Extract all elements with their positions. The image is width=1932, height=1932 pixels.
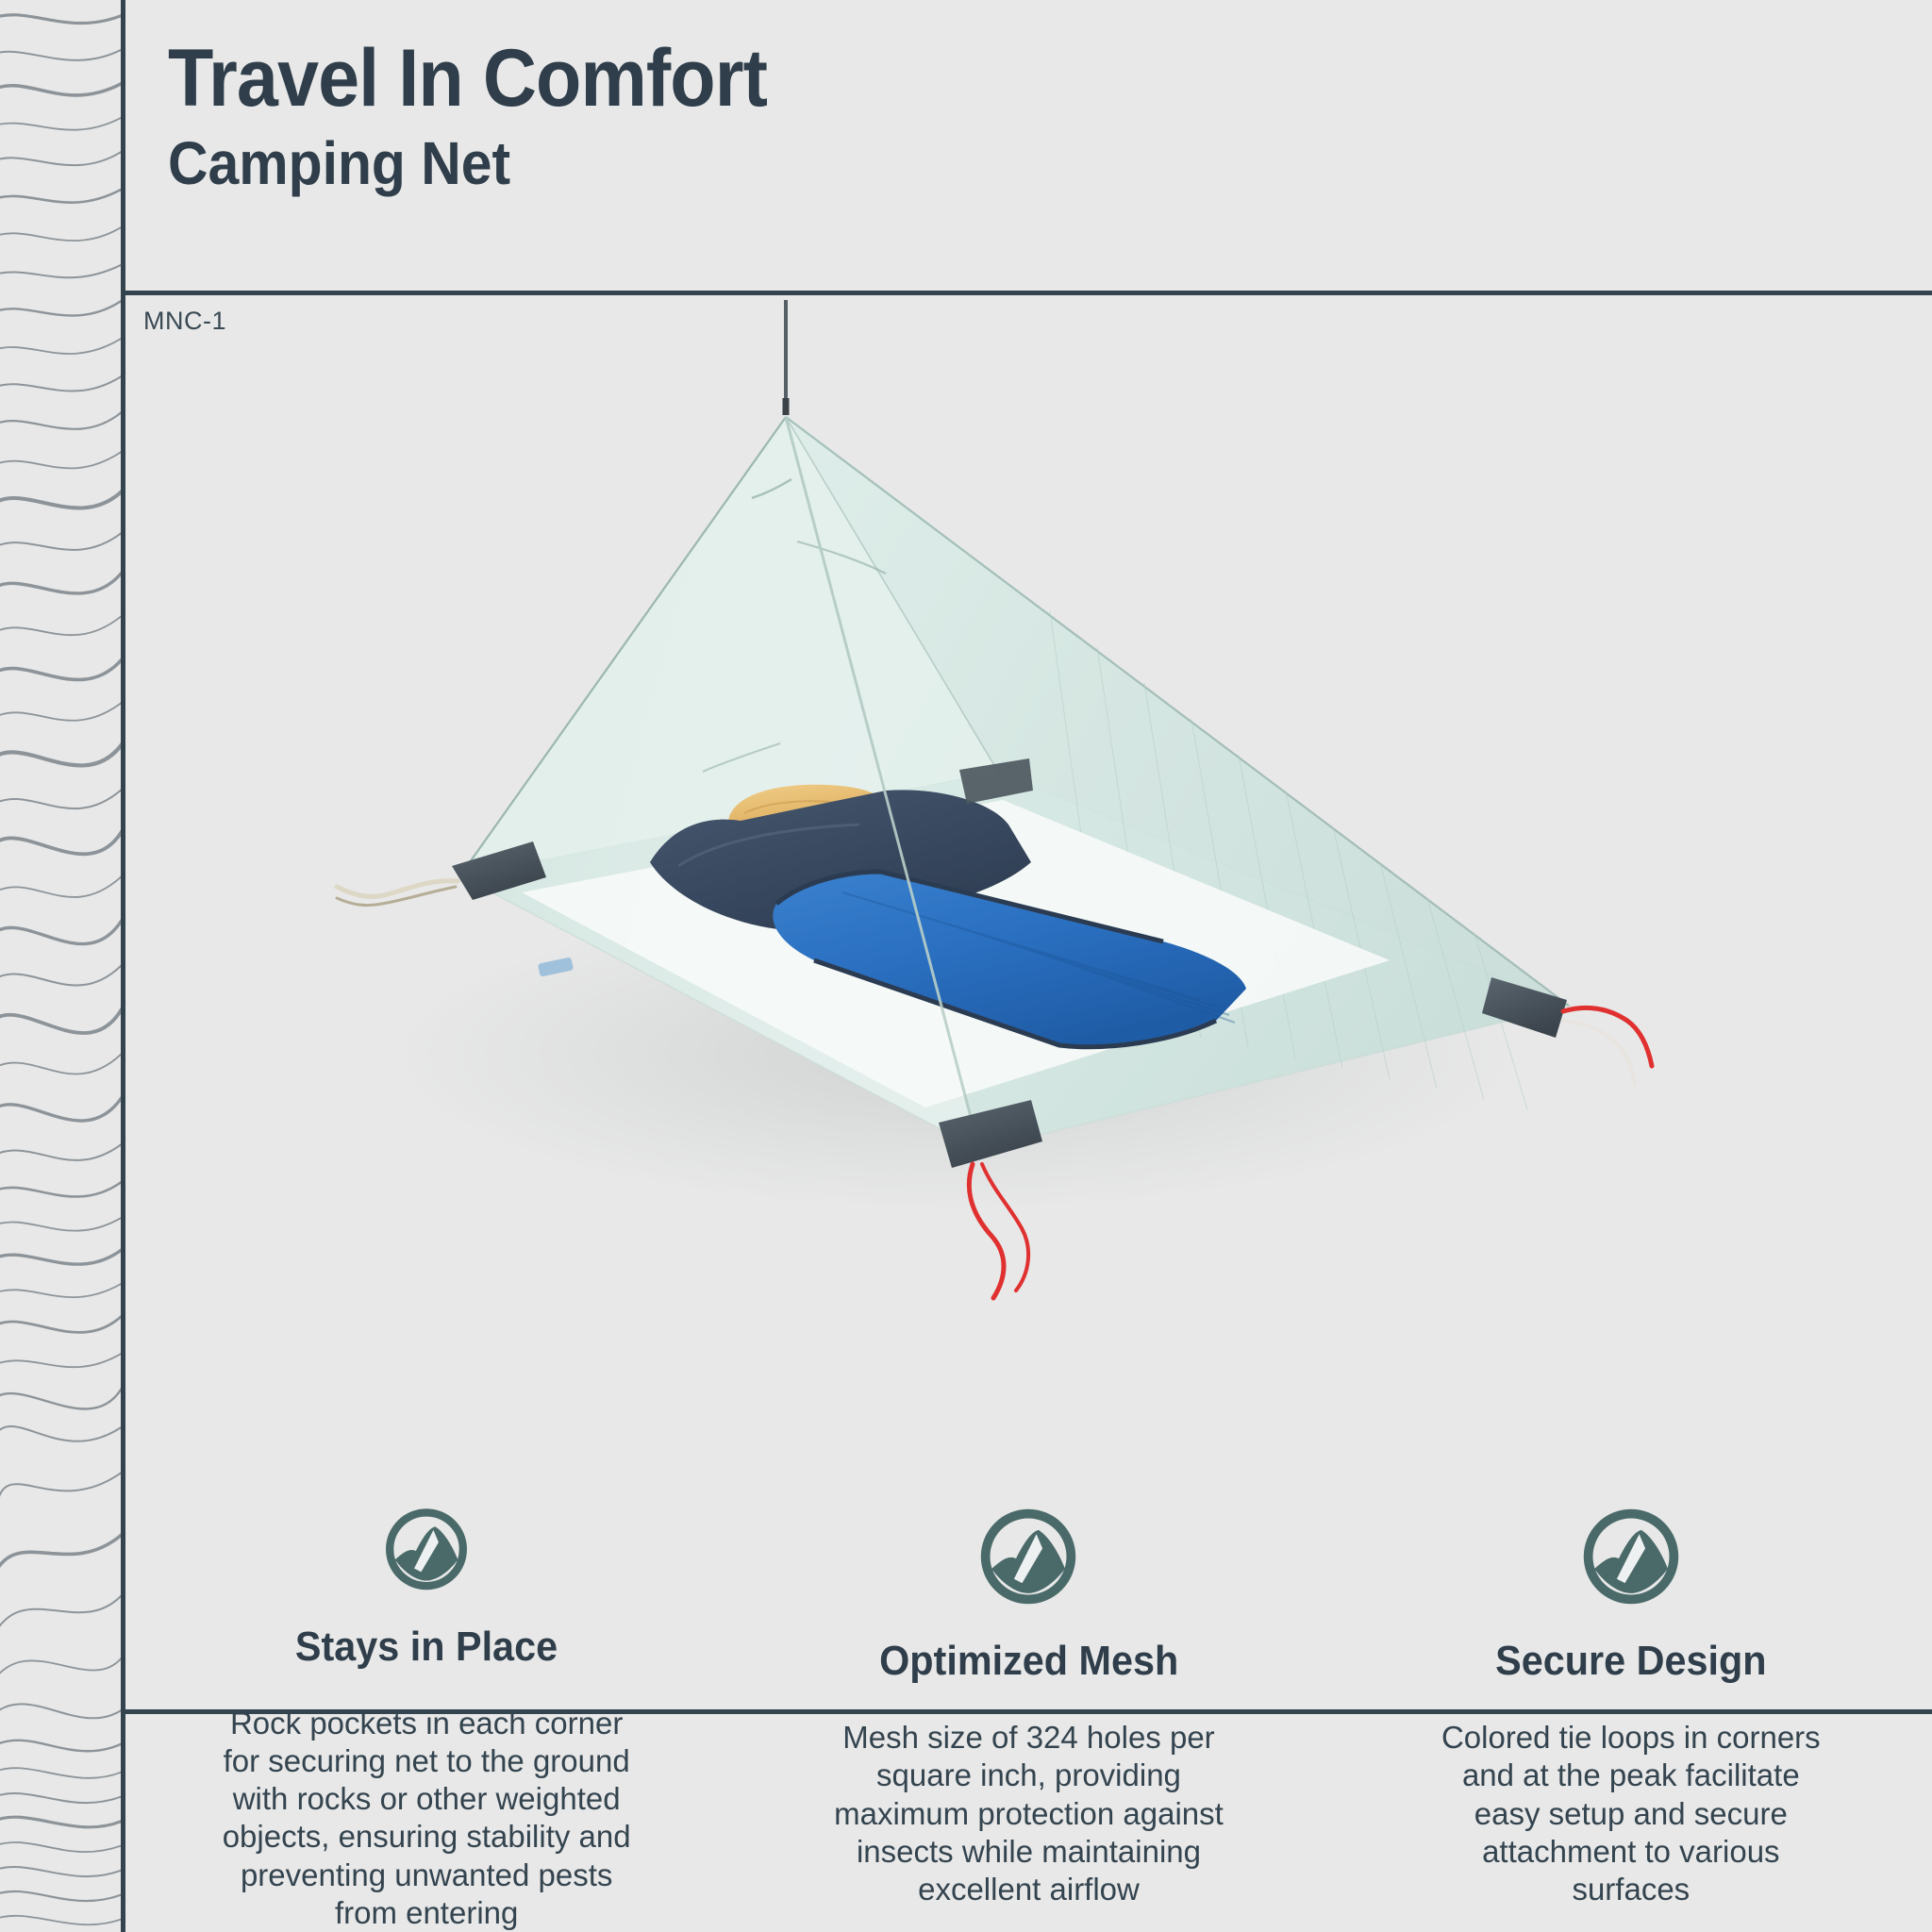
feature-title: Stays in Place xyxy=(295,1624,558,1671)
topographic-sidebar xyxy=(0,0,123,1932)
feature-column-1: Stays in Place Rock pockets in each corn… xyxy=(125,1500,727,1932)
camping-net-illustration xyxy=(125,300,1932,1489)
topographic-lines xyxy=(0,0,123,1932)
feature-title: Secure Design xyxy=(1495,1638,1766,1685)
header: Travel In Comfort Camping Net xyxy=(125,0,1932,292)
mountain-circle-icon xyxy=(375,1506,477,1593)
features-row: Stays in Place Rock pockets in each corn… xyxy=(125,1500,1932,1932)
header-divider xyxy=(121,291,1932,295)
feature-body: Mesh size of 324 holes per square inch, … xyxy=(807,1719,1250,1908)
page-subtitle: Camping Net xyxy=(168,132,1790,195)
mountain-circle-icon xyxy=(1580,1506,1682,1607)
feature-column-2: Optimized Mesh Mesh size of 324 holes pe… xyxy=(727,1500,1329,1932)
mountain-circle-icon xyxy=(977,1506,1079,1607)
corner-tie-right-2 xyxy=(1563,1021,1635,1085)
page-title: Travel In Comfort xyxy=(168,38,1790,121)
feature-title: Optimized Mesh xyxy=(879,1638,1178,1685)
product-image xyxy=(125,300,1932,1489)
corner-tie-left xyxy=(337,881,458,897)
feature-column-3: Secure Design Colored tie loops in corne… xyxy=(1330,1500,1932,1932)
feature-body: Colored tie loops in corners and at the … xyxy=(1409,1719,1853,1908)
feature-body: Rock pockets in each corner for securing… xyxy=(205,1705,648,1932)
